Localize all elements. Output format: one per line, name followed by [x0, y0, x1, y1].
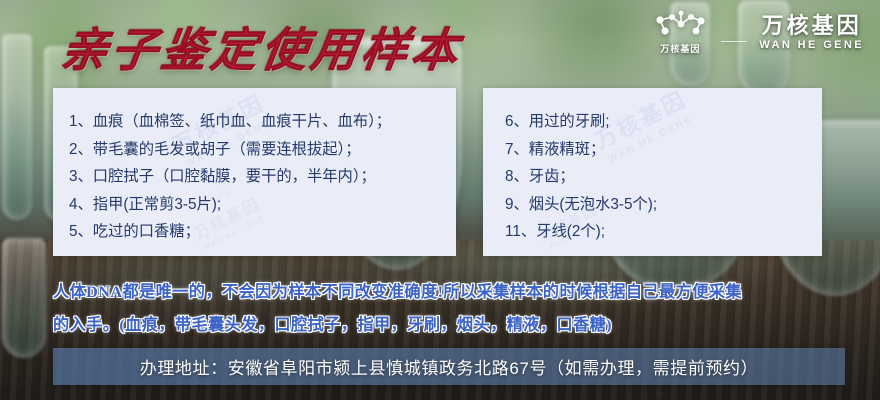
list-item: 9、烟头(无泡水3-5个);	[505, 191, 822, 219]
brand-mark-sub-label: 万核基因	[660, 42, 700, 55]
list-item: 1、血痕（血棉签、纸巾血、血痕干片、血布）；	[69, 108, 456, 136]
list-item: 6、用过的牙刷;	[505, 108, 822, 136]
list-item: 8、牙齿；	[505, 163, 822, 191]
list-item: 4、指甲(正常剪3-5片);	[69, 191, 456, 219]
brand-name-cn: 万核基因	[762, 14, 862, 39]
page-title: 亲子鉴定使用样本	[57, 14, 466, 80]
molecule-icon	[651, 10, 709, 40]
brand-text: 万核基因 WAN HE GENE	[759, 14, 864, 51]
list-item: 2、带毛囊的毛发或胡子（需要连根拔起）；	[69, 136, 456, 164]
brand-divider	[721, 41, 747, 42]
note-line-2: 的入手。(血痕，带毛囊头发，口腔拭子，指甲，牙刷，烟头，精液，口香糖)	[53, 309, 843, 342]
sample-list-left: 1、血痕（血棉签、纸巾血、血痕干片、血布）； 2、带毛囊的毛发或胡子（需要连根拔…	[53, 88, 456, 246]
sample-panel-right: 万核基因 WAN HE GENE 万核基因 WAN HE GENE	[483, 88, 822, 256]
sample-panels: 万核基因 WAN HE GENE 万核基因 WAN HE GENE	[53, 88, 822, 256]
poster-root: 亲子鉴定使用样本	[0, 0, 880, 400]
sample-panel-left: 万核基因 WAN HE GENE 万核基因 WAN HE GENE	[53, 88, 456, 256]
list-item: 3、口腔拭子（口腔黏膜，要干的，半年内）；	[69, 163, 456, 191]
brand-name-en: WAN HE GENE	[759, 39, 864, 51]
sample-list-right: 6、用过的牙刷; 7、精液精斑； 8、牙齿； 9、烟头(无泡水3-5个); 11…	[483, 88, 822, 246]
address-bar: 办理地址：安徽省阜阳市颍上县慎城镇政务北路67号（如需办理，需提前预约）	[53, 348, 845, 385]
brand-mark: 万核基因	[651, 10, 709, 55]
brand-logo: 万核基因 万核基因 WAN HE GENE	[651, 10, 864, 55]
list-item: 5、吃过的口香糖；	[69, 218, 456, 246]
note-paragraph: 人体DNA都是唯一的，不会因为样本不同改变准确度!所以采集样本的时候根据自己最方…	[53, 276, 843, 342]
address-text: 办理地址：安徽省阜阳市颍上县慎城镇政务北路67号（如需办理，需提前预约）	[140, 354, 759, 379]
note-line-1: 人体DNA都是唯一的，不会因为样本不同改变准确度!所以采集样本的时候根据自己最方…	[53, 276, 843, 309]
list-item: 11、牙线(2个);	[505, 218, 822, 246]
list-item: 7、精液精斑；	[505, 136, 822, 164]
